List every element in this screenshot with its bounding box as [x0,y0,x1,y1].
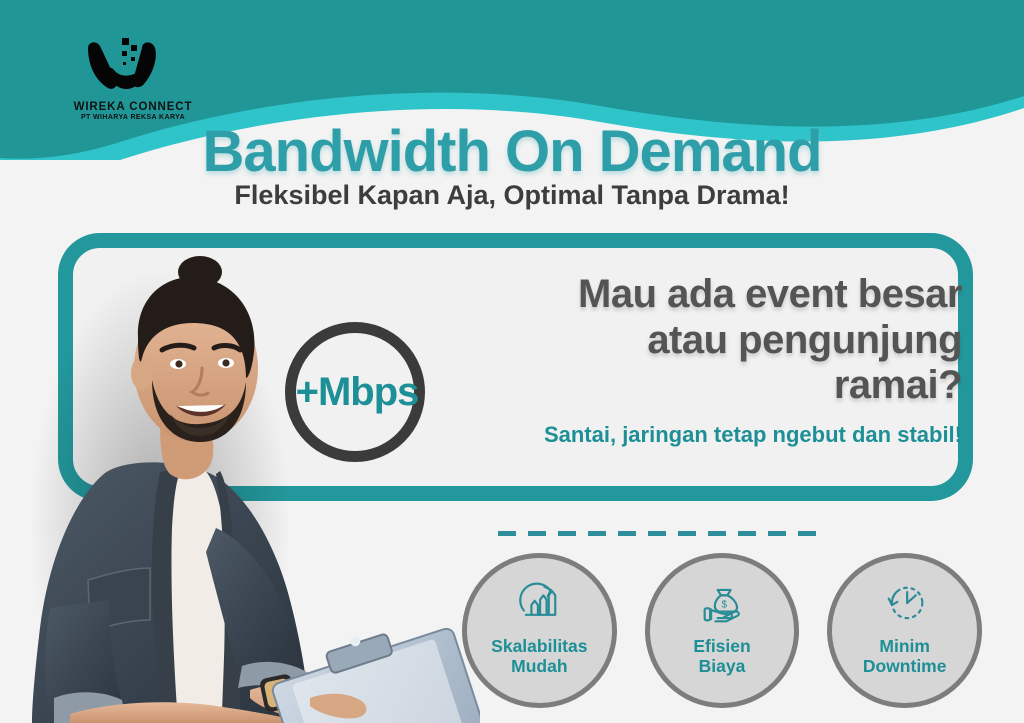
feature-label-scalability: Skalabilitas Mudah [491,636,587,676]
card-copy-block: Mau ada event besar atau pengunjung rama… [492,272,962,448]
feature-item-downtime: Minim Downtime [827,553,982,708]
feature-label-cost: Efisien Biaya [693,636,750,676]
page-title: Bandwidth On Demand [0,118,1024,185]
feature-item-scalability: Skalabilitas Mudah [462,553,617,708]
card-tagline: Santai, jaringan tetap ngebut dan stabil… [492,422,962,448]
brand-logo: WIREKA CONNECT PT WIHARYA REKSA KARYA [58,36,208,121]
page-subtitle: Fleksibel Kapan Aja, Optimal Tanpa Drama… [0,180,1024,211]
growth-arrows-icon [513,578,565,630]
feature-label-downtime: Minim Downtime [863,636,947,676]
card-headline-line-1: Mau ada event besar [492,272,962,318]
dashed-divider [498,531,818,536]
svg-text:$: $ [721,599,727,610]
hand-money-bag-icon: $ [696,578,748,630]
clock-rewind-icon [879,578,931,630]
brand-legal-name: PT WIHARYA REKSA KARYA [58,114,208,121]
card-headline-line-2: atau pengunjung [492,318,962,364]
hero-photo [10,228,480,723]
wireka-w-mark-icon [78,36,188,98]
feature-list: Skalabilitas Mudah $ Efisien Biaya [462,553,982,723]
brand-name: WIREKA CONNECT [58,101,208,113]
card-headline-line-3: ramai? [492,363,962,409]
promotional-poster: WIREKA CONNECT PT WIHARYA REKSA KARYA Ba… [0,0,1024,723]
feature-item-cost: $ Efisien Biaya [645,553,800,708]
